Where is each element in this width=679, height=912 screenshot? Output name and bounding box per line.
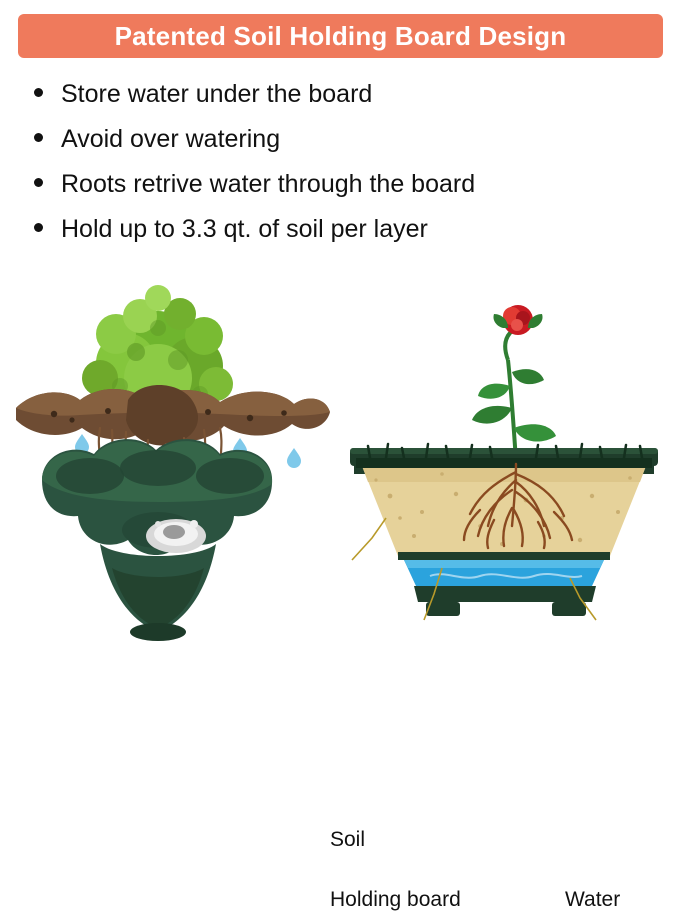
list-item-label: Roots retrive water through the board — [61, 164, 475, 204]
list-item-label: Store water under the board — [61, 74, 372, 114]
diagram-label-soil: Soil — [330, 828, 365, 852]
bullet-icon — [34, 88, 43, 97]
list-item-label: Hold up to 3.3 qt. of soil per layer — [61, 209, 428, 249]
bullet-icon — [34, 133, 43, 142]
bullet-icon — [34, 223, 43, 232]
cross-section-diagram — [330, 268, 679, 660]
diagram-label-holding-board: Holding board — [330, 888, 461, 912]
header-banner: Patented Soil Holding Board Design — [18, 14, 663, 58]
water-splash-icon — [146, 519, 206, 553]
list-item: Roots retrive water through the board — [28, 164, 668, 204]
bullet-icon — [34, 178, 43, 187]
planter-pot-icon — [42, 439, 272, 641]
illustration-area: Soil Holding board Water — [0, 268, 679, 660]
flower-icon — [472, 305, 556, 460]
page-title: Patented Soil Holding Board Design — [115, 21, 567, 52]
list-item: Avoid over watering — [28, 119, 668, 159]
diagram-label-water: Water — [565, 888, 620, 912]
soil-holding-board-icon — [16, 385, 330, 446]
list-item-label: Avoid over watering — [61, 119, 280, 159]
list-item: Hold up to 3.3 qt. of soil per layer — [28, 209, 668, 249]
product-photo — [8, 268, 338, 648]
feature-list: Store water under the board Avoid over w… — [28, 74, 668, 254]
list-item: Store water under the board — [28, 74, 668, 114]
